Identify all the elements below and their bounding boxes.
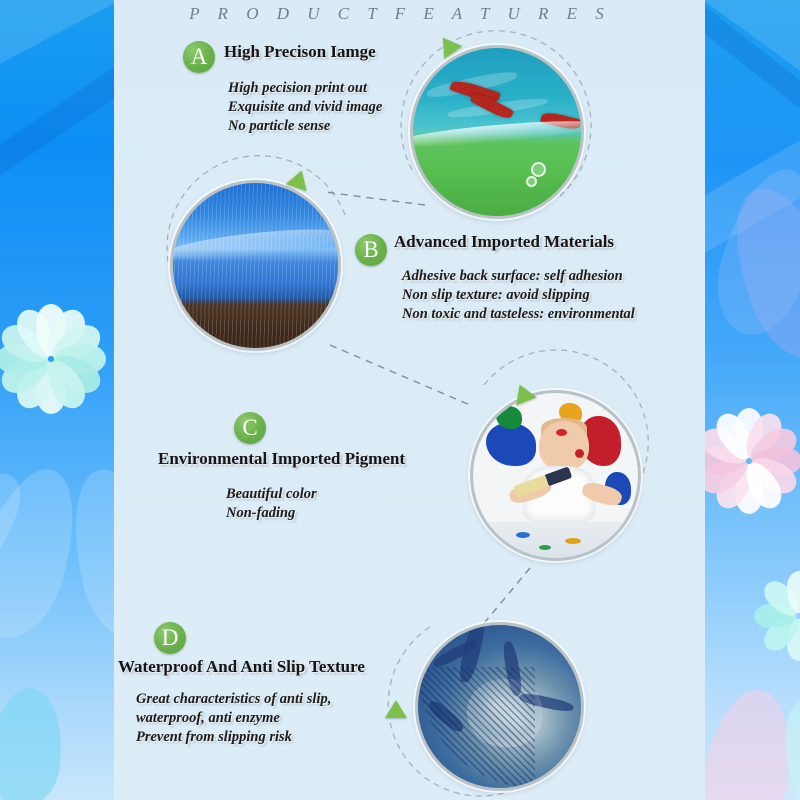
decor-flower-rosette xyxy=(0,300,110,418)
feature-d-body: Great characteristics of anti slip, wate… xyxy=(136,690,331,747)
product-features-infographic: P R O D U C T F E A T U R E S A High Pre… xyxy=(0,0,800,800)
bubble-icon xyxy=(526,176,537,187)
photo-baby-painting-image xyxy=(473,393,638,558)
fabric-weave-texture xyxy=(173,183,338,348)
badge-b: B xyxy=(355,234,387,266)
paint-mat xyxy=(473,522,638,558)
photo-baby-painting xyxy=(470,390,641,561)
feature-c-body: Beautiful color Non-fading xyxy=(226,485,317,523)
feature-b-heading: Advanced Imported Materials xyxy=(394,232,614,252)
page-title: P R O D U C T F E A T U R E S xyxy=(0,4,800,24)
photo-water-fish xyxy=(410,45,584,219)
photo-water-droplet-image xyxy=(418,625,581,788)
badge-a: A xyxy=(183,41,215,73)
bubble-icon xyxy=(531,162,546,177)
feature-d-heading: Waterproof And Anti Slip Texture xyxy=(118,657,365,677)
decor-band xyxy=(0,66,114,199)
paint-splatter xyxy=(486,423,536,466)
background-right-panel xyxy=(705,0,800,800)
feature-a-body: High pecision print out Exquisite and vi… xyxy=(228,79,382,136)
decor-petal xyxy=(0,684,68,800)
paint-dot xyxy=(539,545,551,550)
decor-flower-rosette xyxy=(753,570,800,662)
photo-blue-fabric-image xyxy=(173,183,338,348)
feature-b-body: Adhesive back surface: self adhesion Non… xyxy=(402,267,635,324)
badge-d: D xyxy=(154,622,186,654)
anti-slip-hatch-texture xyxy=(418,667,535,788)
pointer-arrow-d xyxy=(385,700,407,718)
paint-dot xyxy=(556,429,567,436)
water-line xyxy=(410,117,584,151)
paint-dot xyxy=(516,532,530,538)
feature-a-heading: High Precison Iamge xyxy=(224,42,376,62)
photo-blue-fabric xyxy=(170,180,341,351)
background-left-panel xyxy=(0,0,114,800)
decor-flower-rosette xyxy=(705,405,800,517)
photo-water-droplet xyxy=(415,622,584,791)
photo-water-fish-image xyxy=(413,48,581,216)
badge-c: C xyxy=(234,412,266,444)
feature-c-heading: Environmental Imported Pigment xyxy=(158,449,405,469)
